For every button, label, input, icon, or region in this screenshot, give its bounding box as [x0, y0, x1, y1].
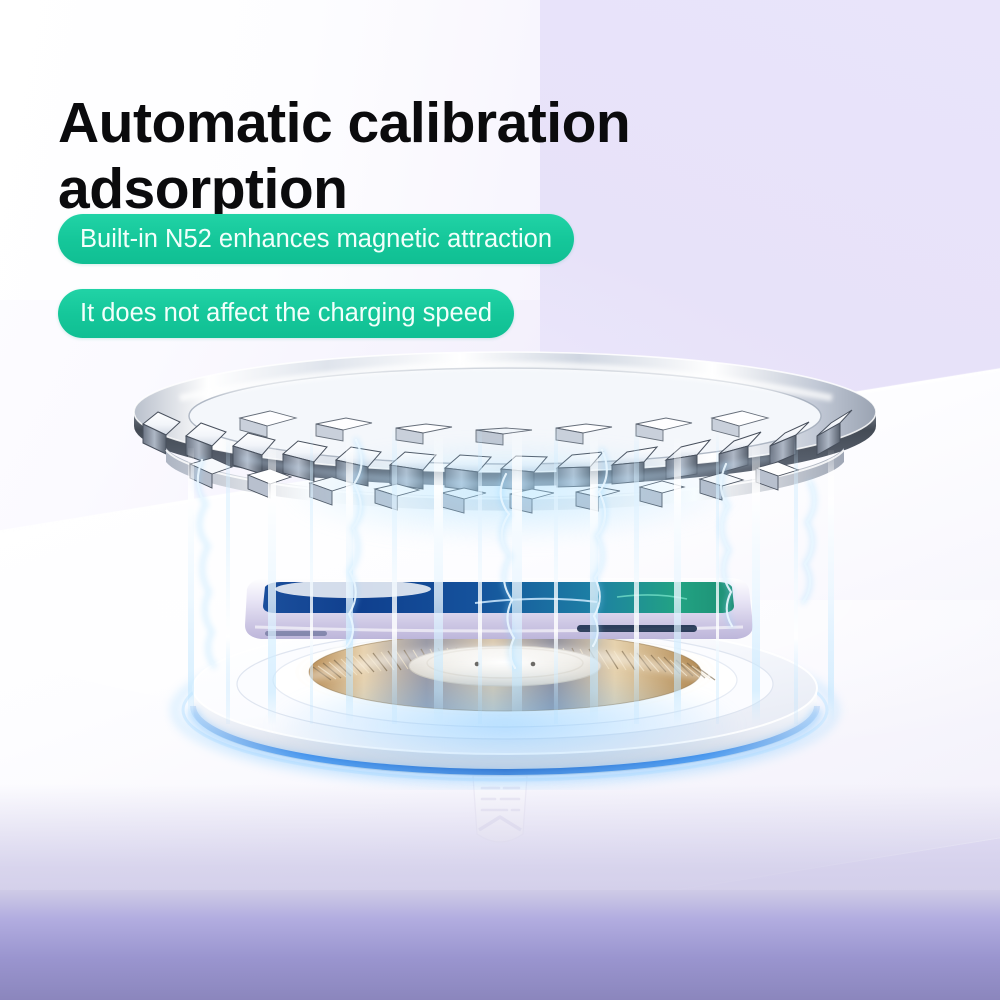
- feature-badge-charging-speed: It does not affect the charging speed: [58, 289, 514, 338]
- feature-badge-label: It does not affect the charging speed: [80, 299, 492, 328]
- headline-line-1: Automatic calibration: [58, 91, 630, 155]
- feature-badge-label: Built-in N52 enhances magnetic attractio…: [80, 225, 552, 254]
- lightning-bolts: [150, 420, 870, 760]
- headline-line-2: adsorption: [58, 157, 348, 221]
- floor-purple-band: [0, 890, 1000, 1000]
- feature-badge-magnet-strength: Built-in N52 enhances magnetic attractio…: [58, 214, 574, 264]
- page-title: Automatic calibrationadsorption: [58, 90, 838, 222]
- lightning-illustration: [150, 420, 870, 760]
- product-feature-image: Automatic calibrationadsorption Built-in…: [0, 0, 1000, 1000]
